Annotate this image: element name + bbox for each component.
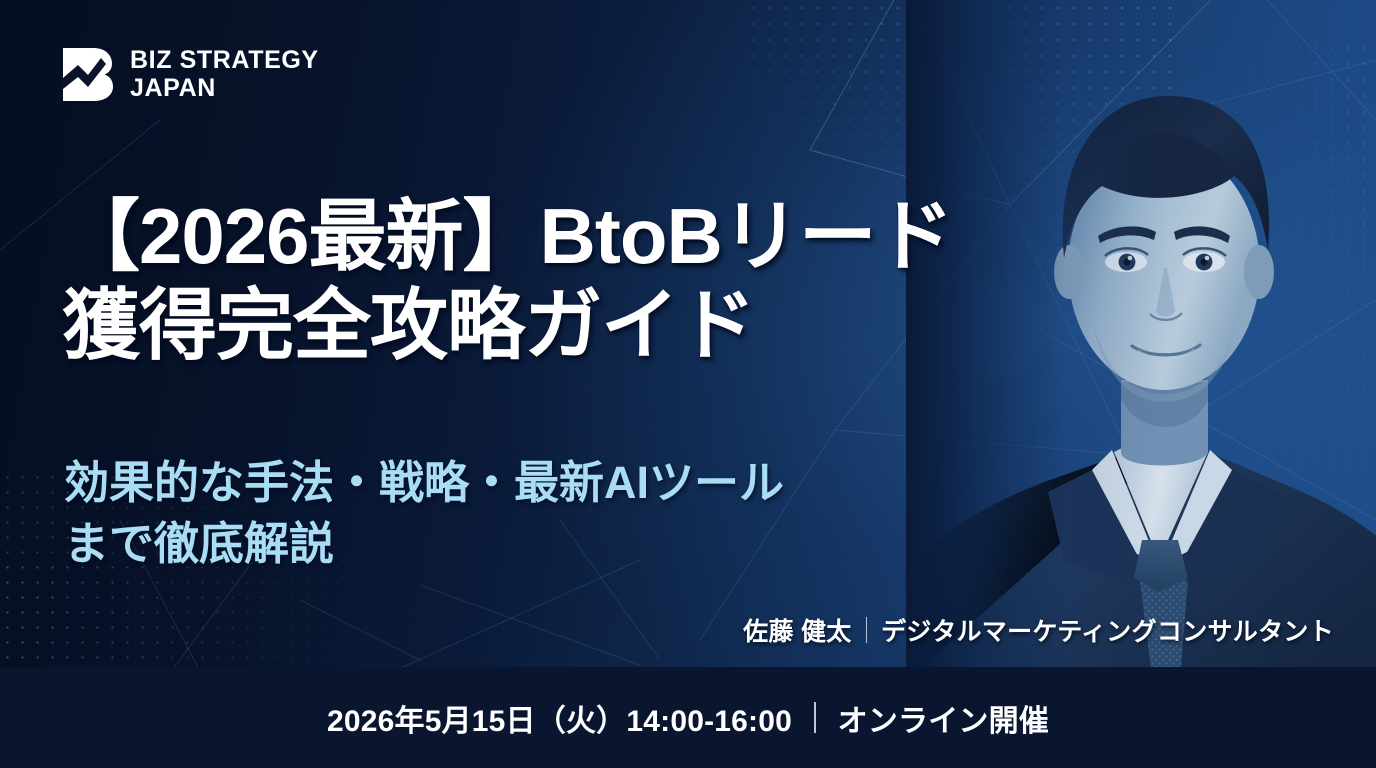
- event-datetime: 2026年5月15日（火）14:00-16:00: [327, 696, 792, 740]
- event-info-inner: 2026年5月15日（火）14:00-16:00 オンライン開催: [327, 696, 1049, 740]
- subtitle-line-2: まで徹底解説: [64, 513, 1044, 574]
- brand-logo: BIZ STRATEGY JAPAN: [60, 45, 319, 103]
- event-separator: [814, 702, 816, 733]
- brand-name-line2: JAPAN: [130, 74, 319, 102]
- brand-name: BIZ STRATEGY JAPAN: [130, 46, 319, 102]
- speaker-name: 佐藤 健太: [743, 612, 851, 648]
- brand-name-line1: BIZ STRATEGY: [130, 46, 319, 74]
- event-format: オンライン開催: [838, 696, 1049, 740]
- webinar-banner: BIZ STRATEGY JAPAN 【2026最新】BtoBリード 獲得完全攻…: [0, 0, 1376, 768]
- subtitle-line-1: 効果的な手法・戦略・最新AIツール: [64, 452, 1044, 513]
- speaker-separator: [866, 617, 868, 643]
- page-title: 【2026最新】BtoBリード 獲得完全攻略ガイド: [62, 192, 1062, 370]
- speaker-title: デジタルマーケティングコンサルタント: [881, 612, 1334, 648]
- headline-line-1: 【2026最新】BtoBリード: [62, 192, 1062, 281]
- event-info-bar: 2026年5月15日（火）14:00-16:00 オンライン開催: [0, 667, 1376, 768]
- chart-b-mark-icon: [60, 45, 114, 103]
- speaker-credit: 佐藤 健太 デジタルマーケティングコンサルタント: [743, 612, 1334, 648]
- headline-line-2: 獲得完全攻略ガイド: [62, 281, 1062, 370]
- page-subtitle: 効果的な手法・戦略・最新AIツール まで徹底解説: [64, 452, 1044, 574]
